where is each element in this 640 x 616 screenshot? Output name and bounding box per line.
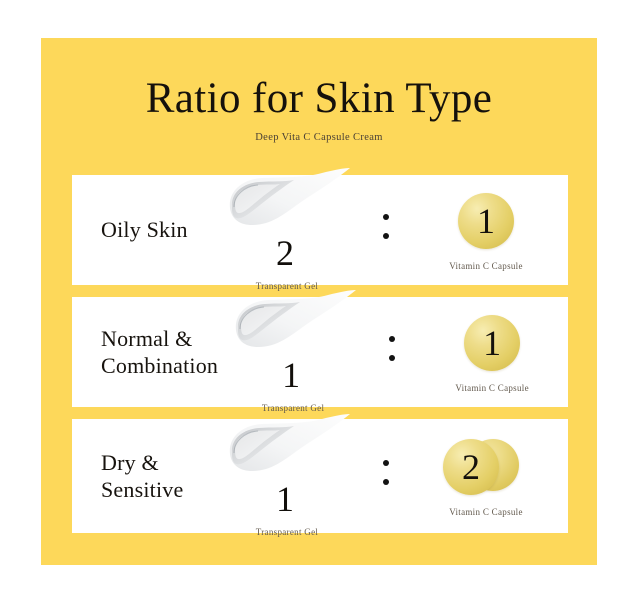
capsule-icon: 2 xyxy=(431,436,541,498)
skin-type-line-1: Normal & xyxy=(101,326,192,351)
skin-type-line-2: Combination xyxy=(101,352,218,379)
skin-type-line-1: Dry & xyxy=(101,450,159,475)
transparent-gel-item: 2 Transparent Gel xyxy=(212,170,362,291)
gel-smear-icon xyxy=(222,416,352,482)
capsule-caption: Vitamin C Capsule xyxy=(449,261,523,271)
gel-quantity: 1 xyxy=(282,357,300,393)
ratio-zone: 2 Transparent Gel 1 Vitamin C Capsule xyxy=(212,175,568,285)
colon-dot-upper xyxy=(383,214,389,220)
skin-type-line-2: Sensitive xyxy=(101,476,212,503)
capsule-quantity: 1 xyxy=(437,325,547,361)
gel-quantity: 2 xyxy=(276,235,294,271)
ratio-row-oily-skin: Oily Skin xyxy=(72,175,568,285)
ratio-colon-separator xyxy=(362,193,410,259)
page-subtitle: Deep Vita C Capsule Cream xyxy=(41,121,597,143)
skin-type-label: Dry & Sensitive xyxy=(72,449,212,504)
page-title: Ratio for Skin Type xyxy=(41,38,597,121)
vitamin-c-capsule-item: 2 Vitamin C Capsule xyxy=(410,436,562,517)
colon-dot-upper xyxy=(389,336,395,342)
skin-type-label: Normal & Combination xyxy=(72,325,218,380)
transparent-gel-item: 1 Transparent Gel xyxy=(212,416,362,537)
vitamin-c-capsule-item: 1 Vitamin C Capsule xyxy=(410,190,562,271)
infographic-panel: Ratio for Skin Type Deep Vita C Capsule … xyxy=(41,38,597,565)
skin-type-label: Oily Skin xyxy=(72,216,212,243)
ratio-row-dry-sensitive: Dry & Sensitive xyxy=(72,419,568,533)
capsule-caption: Vitamin C Capsule xyxy=(455,383,529,393)
ratio-zone: 1 Transparent Gel 2 Vitamin C Capsule xyxy=(212,419,568,533)
colon-dot-upper xyxy=(383,460,389,466)
capsule-icon: 1 xyxy=(437,312,547,374)
gel-caption: Transparent Gel xyxy=(256,527,318,537)
gel-smear-icon xyxy=(228,292,358,358)
capsule-caption: Vitamin C Capsule xyxy=(449,507,523,517)
heading-block: Ratio for Skin Type Deep Vita C Capsule … xyxy=(41,38,597,143)
transparent-gel-item: 1 Transparent Gel xyxy=(218,292,368,413)
gel-smear-icon xyxy=(222,170,352,236)
gel-quantity: 1 xyxy=(276,481,294,517)
ratio-colon-separator xyxy=(368,315,416,381)
colon-dot-lower xyxy=(389,355,395,361)
ratio-zone: 1 Transparent Gel 1 Vitamin C Capsule xyxy=(218,297,574,407)
colon-dot-lower xyxy=(383,479,389,485)
capsule-quantity: 1 xyxy=(431,203,541,239)
skin-type-line-1: Oily Skin xyxy=(101,217,188,242)
vitamin-c-capsule-item: 1 Vitamin C Capsule xyxy=(416,312,568,393)
cut-off-text-strip xyxy=(0,0,640,10)
capsule-icon: 1 xyxy=(431,190,541,252)
ratio-colon-separator xyxy=(362,439,410,505)
ratio-row-normal-combination: Normal & Combination xyxy=(72,297,568,407)
colon-dot-lower xyxy=(383,233,389,239)
capsule-quantity: 2 xyxy=(431,449,511,485)
